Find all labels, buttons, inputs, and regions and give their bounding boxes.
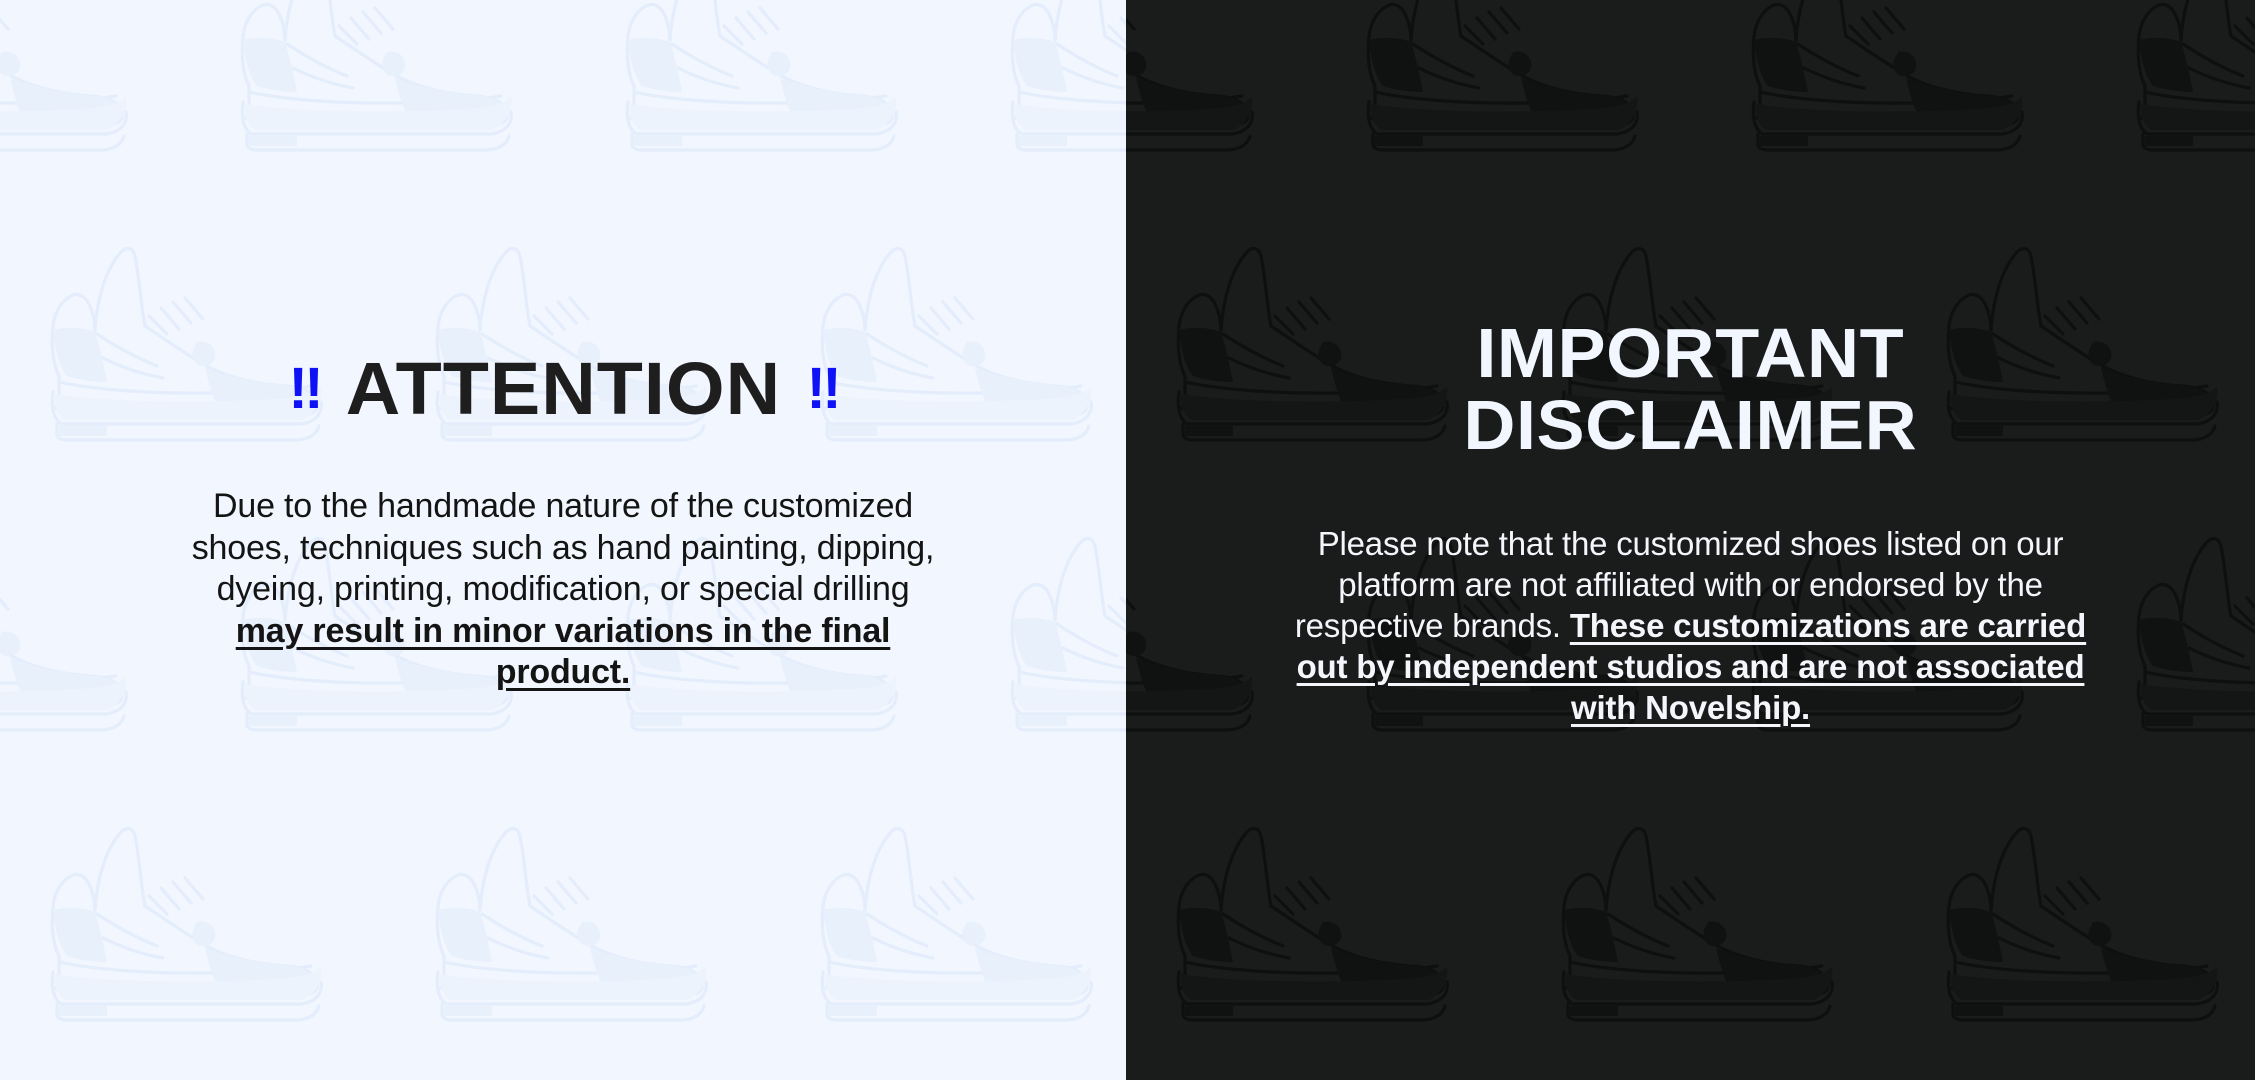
sneaker-icon <box>815 810 1115 1026</box>
sneaker-icon <box>1361 0 1661 156</box>
disclaimer-panel: IMPORTANT DISCLAIMER Please note that th… <box>1126 0 2255 1080</box>
sneaker-icon <box>2131 0 2255 156</box>
sneaker-icon <box>45 810 345 1026</box>
disclaimer-heading: IMPORTANT DISCLAIMER <box>1464 318 1918 461</box>
disclaimer-banner: ‼ ATTENTION ‼ Due to the handmade nature… <box>0 0 2255 1080</box>
attention-heading-text: ATTENTION <box>345 352 780 426</box>
sneaker-icon <box>1746 0 2046 156</box>
attention-body-emphasis: may result in minor variations in the fi… <box>236 612 891 691</box>
attention-panel: ‼ ATTENTION ‼ Due to the handmade nature… <box>0 0 1126 1080</box>
disclaimer-body: Please note that the customized shoes li… <box>1276 524 2106 729</box>
attention-body: Due to the handmade nature of the custom… <box>183 486 943 693</box>
sneaker-icon <box>1171 810 1471 1026</box>
sneaker-icon <box>1005 0 1126 156</box>
disclaimer-heading-line2: DISCLAIMER <box>1464 390 1918 461</box>
sneaker-icon <box>620 0 920 156</box>
attention-content: ‼ ATTENTION ‼ Due to the handmade nature… <box>0 352 1126 727</box>
sneaker-icon <box>1941 810 2241 1026</box>
double-exclamation-icon-right: ‼ <box>806 360 837 418</box>
attention-body-plain: Due to the handmade nature of the custom… <box>192 487 935 608</box>
sneaker-icon <box>1126 0 1276 156</box>
sneaker-icon <box>235 0 535 156</box>
disclaimer-heading-line1: IMPORTANT <box>1477 314 1905 392</box>
sneaker-icon <box>430 810 730 1026</box>
double-exclamation-icon-left: ‼ <box>288 360 319 418</box>
sneaker-icon <box>1556 810 1856 1026</box>
disclaimer-content: IMPORTANT DISCLAIMER Please note that th… <box>1126 318 2255 761</box>
attention-heading: ‼ ATTENTION ‼ <box>288 352 837 426</box>
sneaker-icon <box>0 0 150 156</box>
